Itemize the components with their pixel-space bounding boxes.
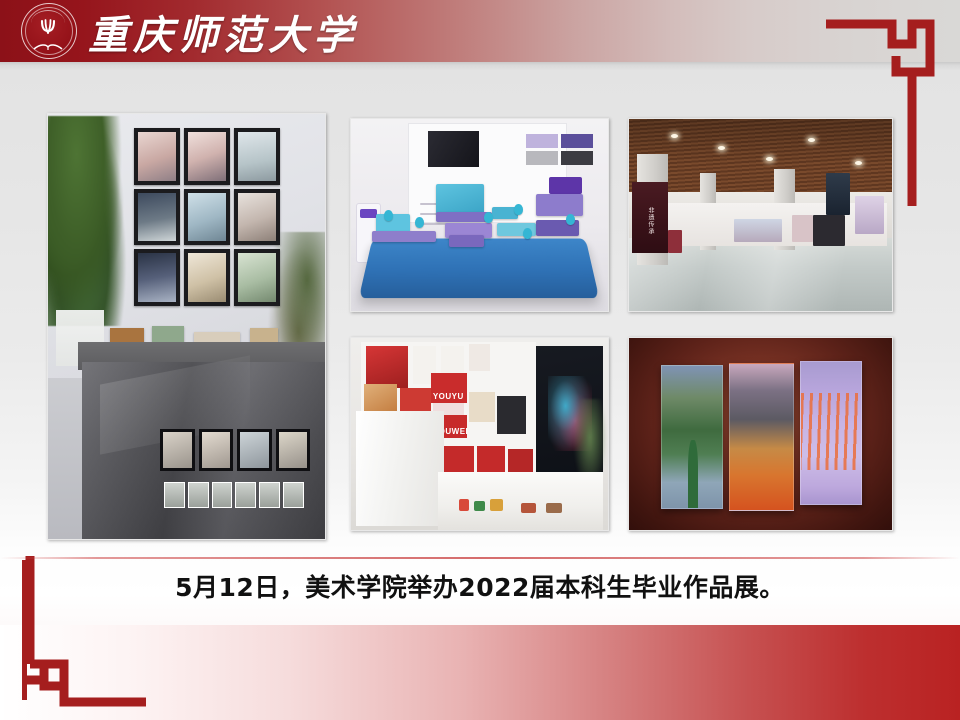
architecture-model-blocks: [372, 182, 588, 255]
caption-top-divider: [0, 557, 960, 559]
small-framed-prints: [160, 429, 310, 471]
photo-exhibition-hall-interior: 非遗传承: [628, 118, 893, 312]
university-seal-icon: [16, 6, 78, 58]
university-name-title: 重庆师范大学: [88, 4, 358, 60]
photo-red-themed-brand-booth: YOUYU YOUWEI YOUYU YOUYU YOUWEI: [350, 337, 609, 531]
photo-framed-artwork-display-wall: [47, 113, 326, 540]
painting-2-crowd-rocks: [729, 363, 794, 511]
brand-label-youyu-1: YOUYU: [433, 392, 464, 401]
presentation-slide: 重庆师范大学: [0, 0, 960, 720]
slide-caption-text: 5月12日，美术学院举办2022届本科生毕业作品展。: [0, 563, 960, 608]
exhibition-banner-text: 非遗传承: [646, 207, 654, 235]
slatted-wood-ceiling: [629, 119, 892, 196]
painting-3-stairway-figures: [800, 361, 862, 505]
exhibition-banner: 非遗传承: [632, 182, 669, 253]
framed-artwork-grid: [134, 128, 280, 306]
white-draped-table-left: [356, 411, 443, 526]
photo-urban-design-scale-model: [350, 118, 609, 312]
postcard-row: [164, 482, 304, 508]
photo-three-vertical-oil-paintings: [628, 337, 893, 531]
slide-header-bar: 重庆师范大学: [0, 0, 960, 62]
header-underline: [0, 62, 960, 70]
hanging-plant: [47, 116, 128, 326]
painting-1-forest-road: [661, 365, 723, 509]
